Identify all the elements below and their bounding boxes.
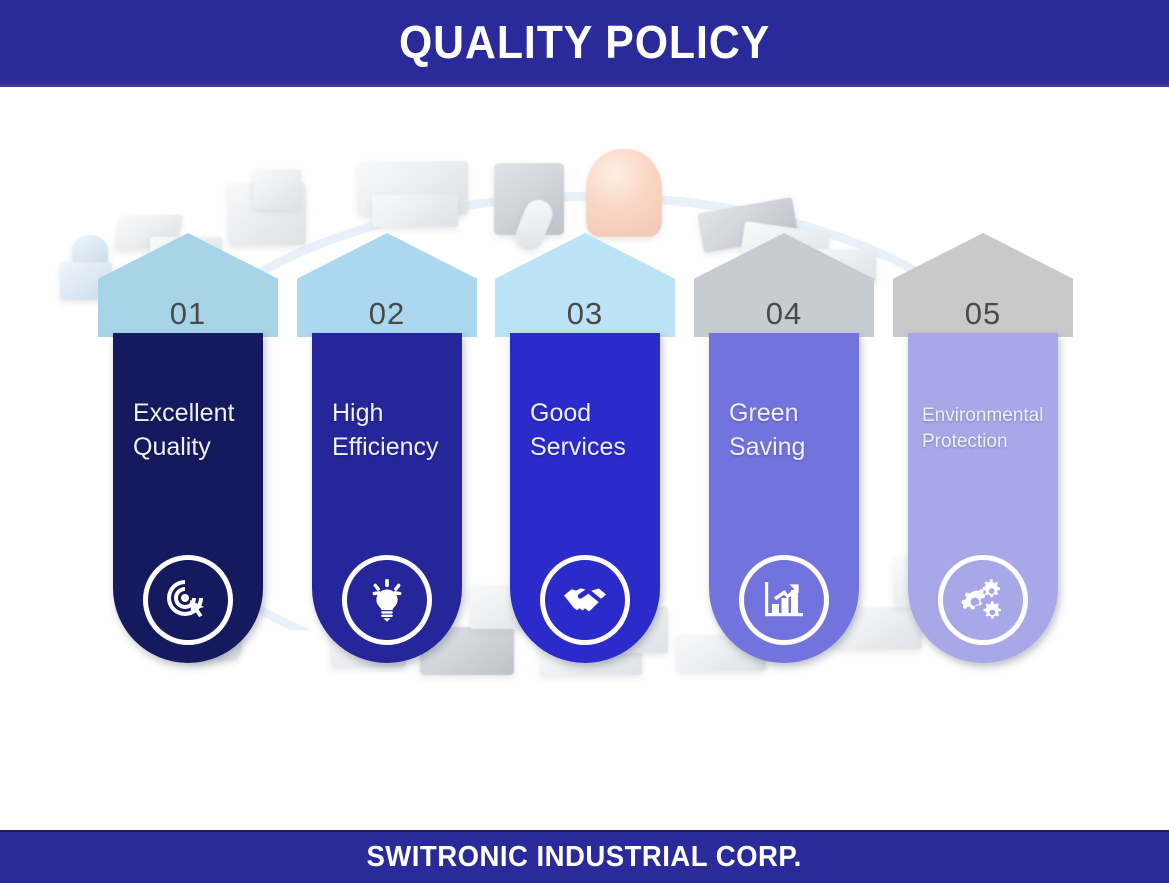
arrow-body-02: High Efficiency	[312, 333, 462, 663]
arrow-label-02: High Efficiency	[332, 397, 472, 465]
header-banner: QUALITY POLICY	[0, 0, 1169, 87]
footer-banner: SWITRONIC INDUSTRIAL CORP.	[0, 830, 1169, 883]
arrow-number-05: 05	[965, 298, 1001, 329]
arrow-head-02: 02	[297, 233, 477, 337]
arrow-head-05: 05	[893, 233, 1073, 337]
arrow-label-03: Good Services	[530, 397, 670, 465]
arrow-label-04: Green Saving	[729, 397, 869, 465]
arrow-label-01: Excellent Quality	[133, 397, 273, 465]
arrow-label-05: Environmental Protection	[922, 403, 1072, 454]
arrow-body-03: Good Services	[510, 333, 660, 663]
arrow-column-03[interactable]: 03 Good Services	[495, 233, 675, 673]
arrow-number-03: 03	[567, 298, 603, 329]
arrow-column-01[interactable]: 01 Excellent Quality	[98, 233, 278, 673]
arrow-head-01: 01	[98, 233, 278, 337]
arrow-number-01: 01	[170, 298, 206, 329]
arrow-head-04: 04	[694, 233, 874, 337]
bar-chart-growth-icon	[739, 555, 829, 645]
arrow-body-01: Excellent Quality	[113, 333, 263, 663]
page-title: QUALITY POLICY	[399, 19, 770, 65]
arrow-number-04: 04	[766, 298, 802, 329]
arrow-column-04[interactable]: 04 Green Saving	[694, 233, 874, 673]
slide-body: 01 Excellent Quality 02 Hi	[0, 87, 1169, 830]
arrow-column-05[interactable]: 05 Environmental Protection	[893, 233, 1073, 673]
target-cursor-icon	[143, 555, 233, 645]
arrow-body-04: Green Saving	[709, 333, 859, 663]
gears-icon	[938, 555, 1028, 645]
company-name: SWITRONIC INDUSTRIAL CORP.	[367, 841, 802, 874]
arrow-number-02: 02	[369, 298, 405, 329]
arrow-body-05: Environmental Protection	[908, 333, 1058, 663]
arrow-columns: 01 Excellent Quality 02 Hi	[0, 87, 1169, 830]
handshake-icon	[540, 555, 630, 645]
arrow-column-02[interactable]: 02 High Efficiency	[297, 233, 477, 673]
arrow-head-03: 03	[495, 233, 675, 337]
lightbulb-icon	[342, 555, 432, 645]
